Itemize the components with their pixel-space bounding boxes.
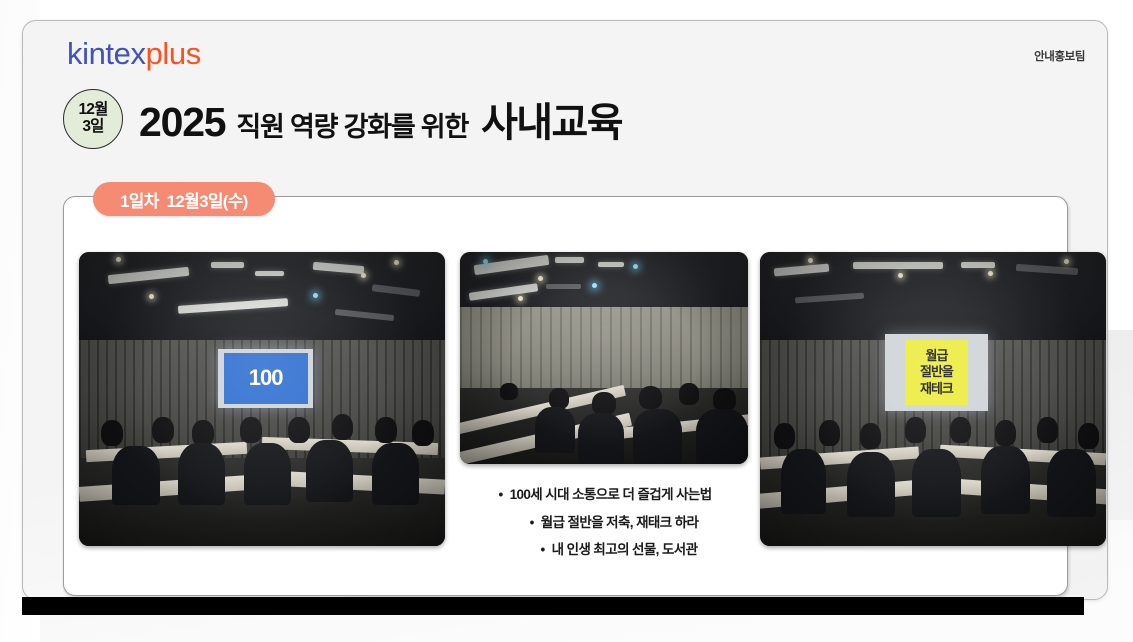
photo-lecture-hall-jaeteku: 월급 절반을 재테크: [760, 252, 1106, 546]
day-tab-date: 12월3일(수): [167, 187, 248, 212]
photo-scene: [460, 252, 748, 464]
title-row: 12월 3일 2025 직원 역량 강화를 위한 사내교육: [63, 83, 622, 155]
title-middle: 직원 역량 강화를 위한: [236, 105, 468, 144]
title-year: 2025: [139, 99, 225, 146]
slide-stage: kintexplus 안내홍보팀 12월 3일 2025 직원 역량 강화를 위…: [0, 0, 1133, 642]
brand-logo-plus: plus: [146, 36, 201, 71]
projection-screen: 100: [218, 349, 313, 408]
brand-logo-kintex: kintex: [67, 36, 146, 71]
slide-card: kintexplus 안내홍보팀 12월 3일 2025 직원 역량 강화를 위…: [22, 20, 1108, 600]
page-title: 2025 직원 역량 강화를 위한 사내교육: [139, 90, 622, 148]
footer-bar: [22, 597, 1084, 615]
date-badge-month: 12월: [78, 102, 107, 119]
brand-logo: kintexplus: [67, 38, 201, 69]
photo-lecture-hall-wide-100: 100: [79, 252, 445, 546]
photo-scene: 100: [79, 252, 445, 546]
day-tab-badge: 1일차 12월3일(수): [93, 182, 275, 216]
list-item: 내 인생 최고의 선물, 도서관: [460, 543, 750, 557]
team-tag: 안내홍보팀: [1034, 48, 1085, 64]
ceiling: [79, 252, 445, 349]
projection-screen: 월급 절반을 재테크: [885, 334, 989, 410]
list-item: 100세 시대 소통으로 더 즐겁게 사는법: [460, 488, 750, 502]
session-topic-list: 100세 시대 소통으로 더 즐겁게 사는법 월급 절반을 저축, 재태크 하라…: [460, 488, 750, 571]
date-badge: 12월 3일: [63, 89, 123, 149]
screen-line-1: 월급: [925, 349, 947, 363]
title-emphasis: 사내교육: [481, 90, 622, 148]
photo-scene: 월급 절반을 재테크: [760, 252, 1106, 546]
screen-line-2: 절반을: [920, 365, 953, 379]
day-tab-label: 1일차: [120, 187, 159, 212]
list-item: 월급 절반을 저축, 재태크 하라: [460, 516, 750, 530]
screen-content: 100: [224, 353, 308, 405]
date-badge-day: 3일: [82, 119, 103, 136]
photo-audience-side-view: [460, 252, 748, 464]
screen-line-3: 재테크: [920, 382, 953, 396]
screen-content: 월급 절반을 재테크: [905, 340, 967, 406]
